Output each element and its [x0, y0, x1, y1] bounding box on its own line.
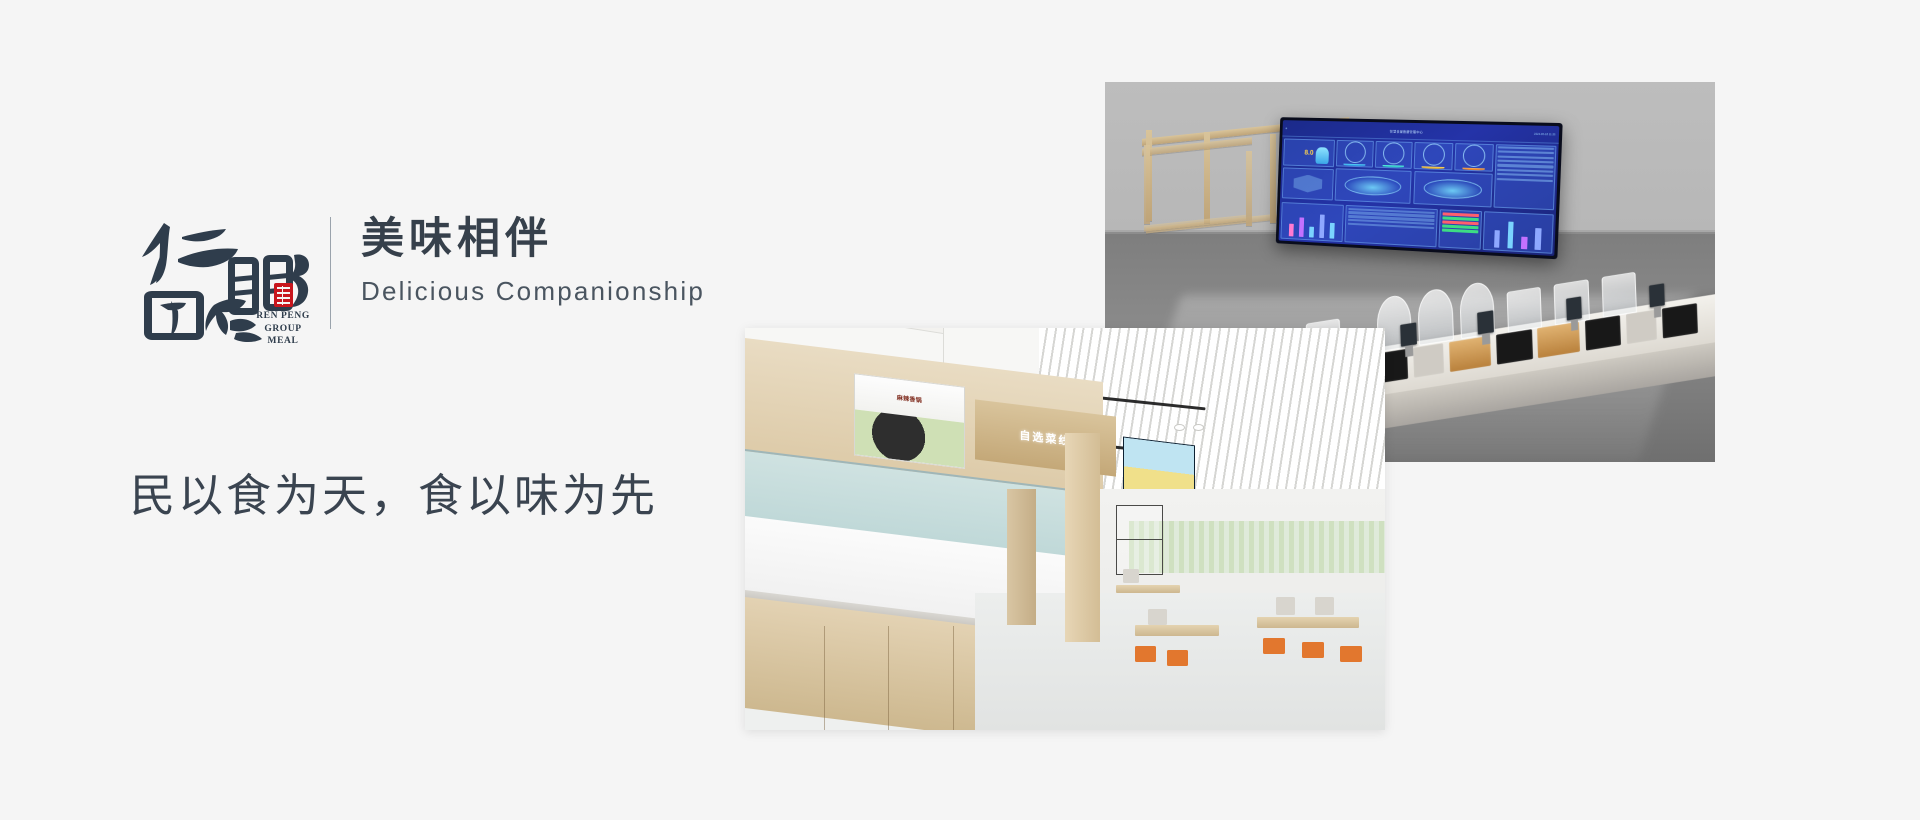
dining-table	[1116, 585, 1180, 593]
list-item	[1497, 160, 1553, 164]
dining-table	[1257, 617, 1359, 627]
dashboard-ranking-table	[1344, 204, 1437, 247]
gauge-cone	[1462, 168, 1485, 171]
radar-ellipse-icon	[1344, 175, 1401, 196]
dashboard-screen-content: ◈ 智慧食堂数据管理中心 2024-06-18 11:26 8.0	[1278, 120, 1558, 256]
dashboard-clock: 2024-06-18 11:26	[1534, 132, 1556, 136]
gauge-ring-icon	[1422, 144, 1445, 167]
list-item	[1497, 155, 1553, 159]
dashboard-chef-avatar	[1315, 147, 1329, 164]
dashboard-status-tags	[1438, 209, 1482, 250]
dashboard-radar-left	[1335, 169, 1411, 204]
logo-english-line-2: GROUP	[250, 323, 316, 336]
dashboard-radar-row	[1335, 169, 1493, 207]
brand-text-block: REN PENG GROUP MEAL 美味相伴 Delicious Compa…	[0, 0, 760, 820]
page-root: REN PENG GROUP MEAL 美味相伴 Delicious Compa…	[0, 0, 1920, 820]
gauge-ring-icon	[1344, 141, 1366, 163]
dashboard-score-panel: 8.0	[1283, 139, 1335, 167]
sneeze-guard	[1601, 271, 1637, 318]
hexagon-chart-icon	[1293, 174, 1322, 193]
brand-row: REN PENG GROUP MEAL 美味相伴 Delicious Compa…	[130, 205, 705, 350]
dashboard-gauge-row	[1336, 140, 1494, 172]
food-tray	[1413, 343, 1444, 378]
counter-base-seam	[953, 626, 954, 730]
dining-table	[1135, 625, 1218, 635]
dining-chair	[1340, 646, 1362, 663]
dashboard-display-screen[interactable]: ◈ 智慧食堂数据管理中心 2024-06-18 11:26 8.0	[1275, 117, 1562, 260]
dashboard-score-value: 8.0	[1304, 149, 1313, 156]
dashboard-radar-right	[1413, 171, 1493, 207]
gauge-cone	[1343, 164, 1365, 167]
radar-ellipse-icon	[1423, 178, 1482, 199]
dashboard-gauge	[1336, 140, 1374, 168]
dashboard-bar-chart-left	[1280, 202, 1343, 243]
chart-bar	[1521, 237, 1527, 250]
dashboard-radar-hex-panel	[1282, 167, 1334, 200]
chart-bar	[1298, 217, 1304, 237]
menu-board-title: 麻辣香锅	[897, 393, 922, 405]
side-door	[1007, 489, 1036, 626]
dining-chair	[1263, 638, 1285, 655]
list-item	[1498, 151, 1554, 155]
dining-chair	[1135, 646, 1155, 662]
dashboard-gauge	[1414, 142, 1453, 170]
list-item	[1497, 178, 1553, 182]
pergola-post	[1246, 151, 1252, 226]
renpeng-group-meal-logo: REN PENG GROUP MEAL	[130, 205, 310, 350]
dining-chair	[1167, 650, 1187, 666]
electronic-price-tag[interactable]	[1566, 296, 1582, 320]
dining-chair	[1302, 642, 1324, 659]
dashboard-right-list-panel	[1494, 145, 1556, 210]
dashboard-gauge	[1454, 143, 1494, 172]
dashboard-center-column	[1335, 140, 1494, 207]
red-seal-stamp-icon	[274, 283, 293, 307]
dining-chair-back	[1123, 569, 1140, 583]
dining-chair-back	[1315, 597, 1334, 615]
slogan-block: 美味相伴 Delicious Companionship	[361, 205, 705, 307]
gauge-cone	[1421, 167, 1444, 170]
food-tray	[1661, 303, 1698, 339]
counter-base-seam	[824, 626, 825, 730]
display-shelf	[1116, 505, 1163, 575]
electronic-price-tag[interactable]	[1649, 283, 1665, 307]
dining-chair-back	[1276, 597, 1295, 615]
slogan-chinese: 美味相伴	[361, 213, 705, 265]
gauge-ring-icon	[1382, 142, 1404, 165]
chart-bar	[1308, 226, 1313, 238]
gauge-ring-icon	[1462, 145, 1485, 168]
pergola-bottom-beam	[1144, 214, 1249, 231]
slogan-english: Delicious Companionship	[361, 275, 705, 307]
chart-bar	[1319, 215, 1325, 239]
chart-bar	[1534, 228, 1541, 251]
dashboard-left-column: 8.0	[1282, 139, 1335, 200]
food-tray	[1584, 315, 1621, 351]
dashboard-gauge	[1374, 141, 1412, 169]
sneeze-guard	[1506, 286, 1542, 333]
wooden-pergola-frame-right	[1142, 143, 1252, 242]
self-select-line-sign-text: 自选菜线	[1020, 427, 1072, 449]
seal-and-english-block: REN PENG GROUP MEAL	[250, 283, 316, 348]
list-item	[1497, 164, 1553, 168]
green-wall-decor	[1129, 521, 1385, 573]
dining-chair-back	[1148, 609, 1167, 625]
gauge-cone	[1382, 165, 1404, 168]
logo-english-line-1: REN PENG	[250, 310, 316, 323]
chart-bar	[1288, 223, 1293, 237]
electronic-price-tag[interactable]	[1400, 323, 1416, 347]
vertical-divider	[330, 217, 331, 329]
chart-bar	[1329, 223, 1335, 239]
food-tray	[1496, 329, 1533, 365]
menu-light-box: 麻辣香锅	[854, 373, 965, 469]
pergola-post	[1270, 134, 1276, 223]
status-badge	[1441, 229, 1477, 234]
list-item	[1498, 146, 1554, 150]
cafeteria-interior-photo: 麻辣香锅 自选菜线	[745, 328, 1385, 730]
wood-pillar	[1065, 433, 1100, 642]
list-item	[1497, 173, 1553, 177]
dashboard-title: 智慧食堂数据管理中心	[1287, 126, 1534, 137]
page-headline: 民以食为天，食以味为先	[130, 465, 658, 527]
logo-english-line-3: MEAL	[250, 335, 316, 348]
dashboard-bar-chart-right	[1482, 211, 1553, 254]
list-item	[1497, 169, 1553, 173]
electronic-price-tag[interactable]	[1477, 310, 1493, 334]
chart-bar	[1493, 230, 1499, 248]
food-tray	[1626, 309, 1657, 344]
chart-bar	[1507, 222, 1514, 249]
pergola-post	[1144, 145, 1150, 224]
